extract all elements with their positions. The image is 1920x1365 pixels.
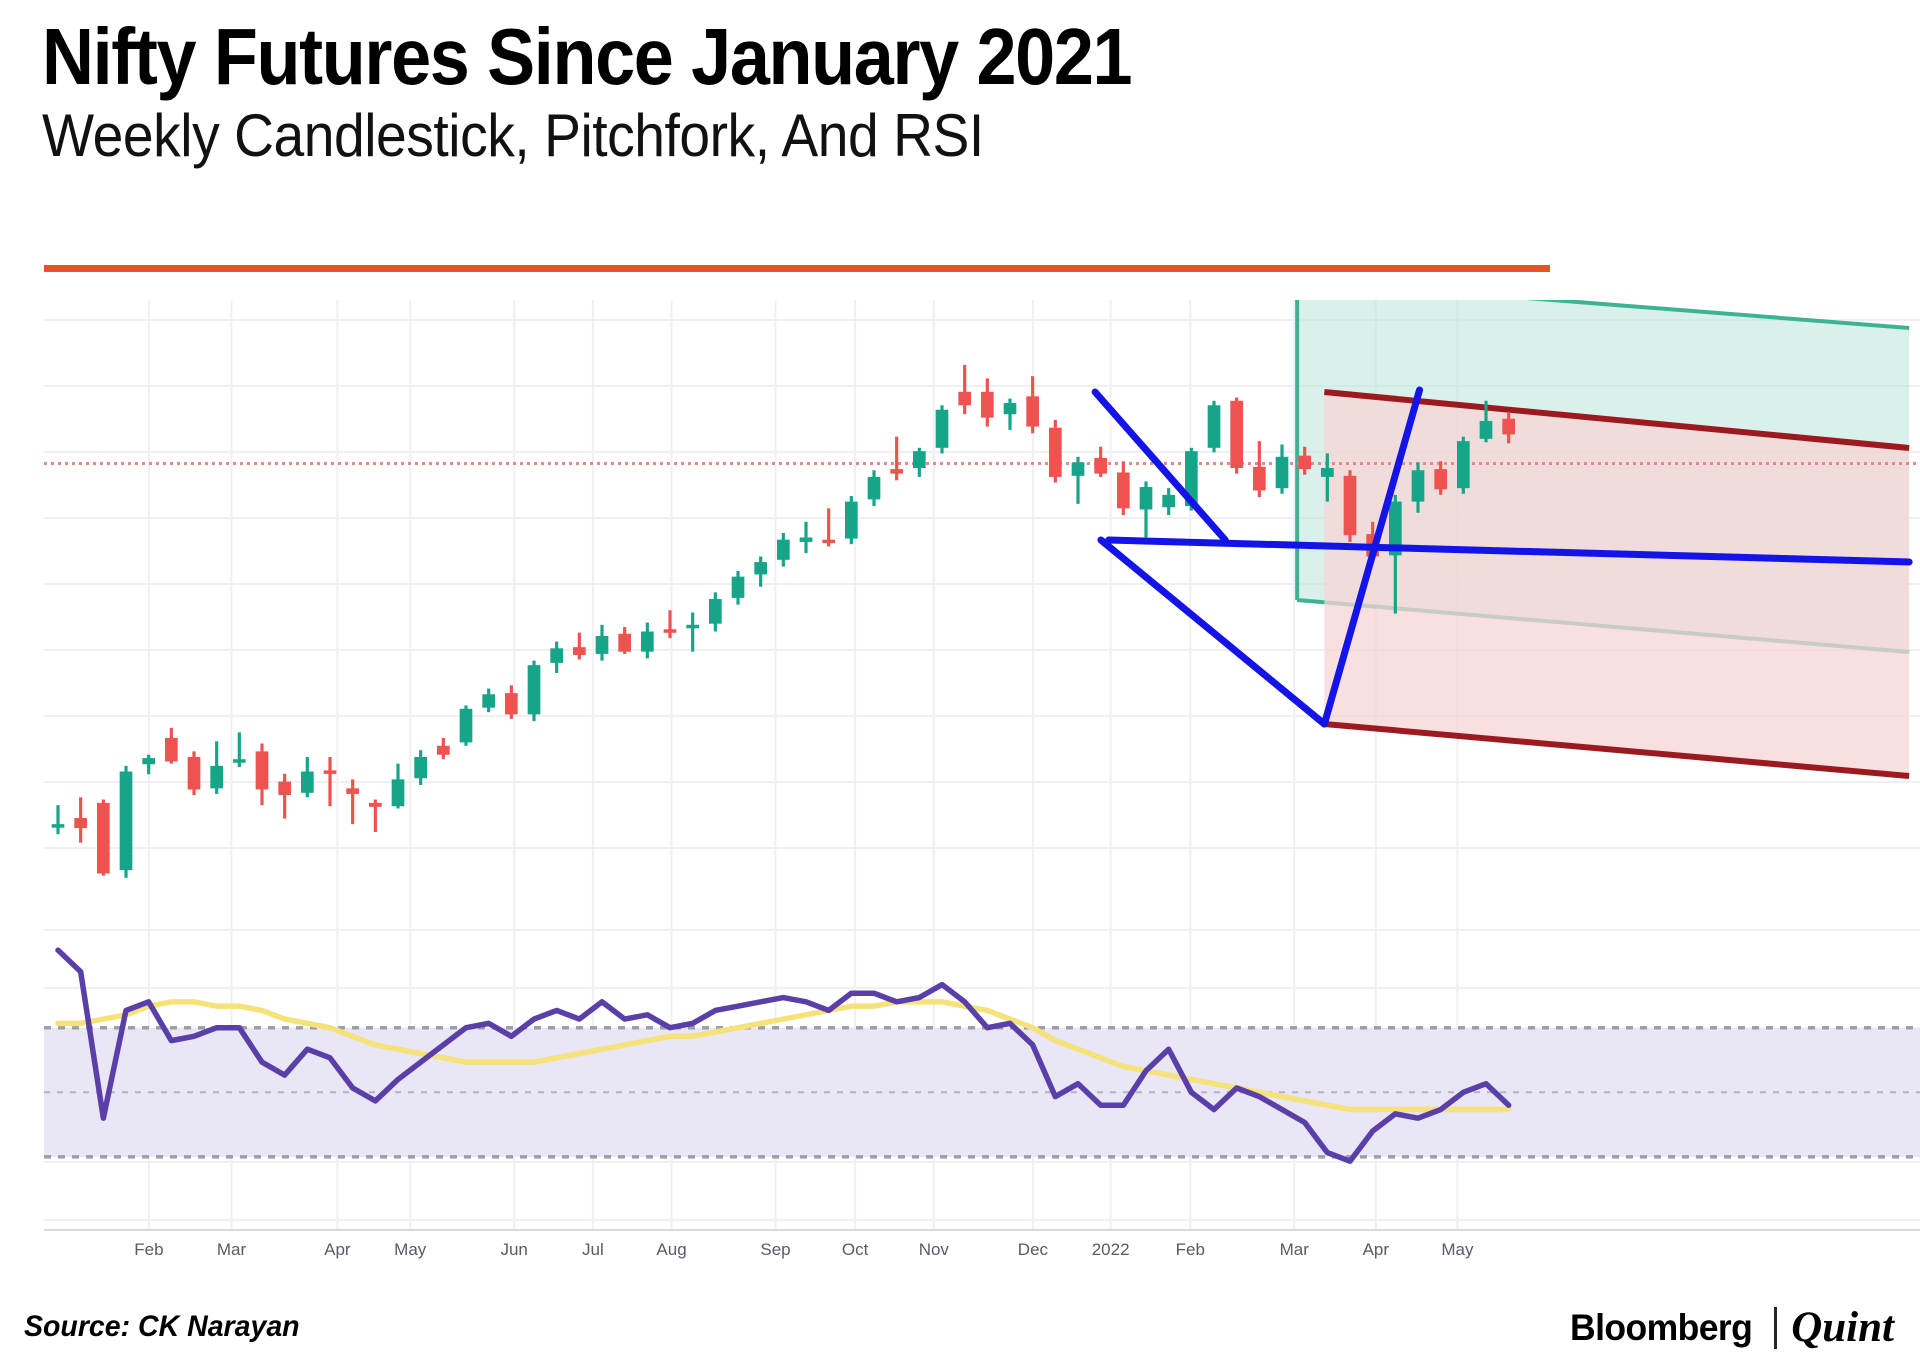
candle-body bbox=[505, 693, 518, 714]
candle-body bbox=[346, 788, 359, 794]
candle-body bbox=[256, 751, 269, 789]
candle-body bbox=[1049, 428, 1062, 477]
rsi-series bbox=[44, 950, 1920, 1161]
x-axis-tick-label: Jun bbox=[500, 1240, 527, 1259]
candle-body bbox=[1208, 405, 1221, 448]
inner-channel-band bbox=[1324, 392, 1909, 776]
x-axis-tick-label: Feb bbox=[1176, 1240, 1205, 1259]
candle-body bbox=[528, 665, 541, 714]
candle-body bbox=[686, 625, 699, 629]
x-axis-tick-label: Apr bbox=[324, 1240, 351, 1259]
candle-body bbox=[1072, 462, 1085, 475]
candle-body bbox=[664, 629, 677, 633]
candle-body bbox=[1344, 476, 1357, 535]
candle-body bbox=[414, 757, 427, 778]
candle-body bbox=[120, 772, 133, 871]
candle-body bbox=[233, 759, 246, 763]
candle-body bbox=[210, 766, 223, 788]
candle-body bbox=[52, 824, 65, 828]
x-axis-tick-label: Aug bbox=[656, 1240, 686, 1259]
chart-header: Nifty Futures Since January 2021 Weekly … bbox=[42, 14, 1878, 170]
candle-body bbox=[777, 540, 790, 560]
candle-body bbox=[822, 540, 835, 544]
candle-body bbox=[165, 738, 178, 762]
candle-body bbox=[1117, 472, 1130, 508]
candle-body bbox=[482, 694, 495, 707]
candle-body bbox=[301, 772, 314, 793]
source-note: Source: CK Narayan bbox=[24, 1310, 300, 1344]
candle-body bbox=[981, 392, 994, 418]
page-title: Nifty Futures Since January 2021 bbox=[42, 14, 1694, 100]
candle-body bbox=[460, 709, 473, 743]
candle-body bbox=[754, 562, 767, 574]
x-axis-tick-label: Nov bbox=[919, 1240, 950, 1259]
candle-body bbox=[958, 392, 971, 405]
candle-body bbox=[709, 599, 722, 624]
candle-body bbox=[1230, 401, 1243, 468]
candle-body bbox=[437, 746, 450, 755]
candle-body bbox=[641, 632, 654, 652]
x-axis-tick-label: Mar bbox=[1280, 1240, 1310, 1259]
x-axis-tick-label: May bbox=[394, 1240, 427, 1259]
candle-body bbox=[732, 577, 745, 598]
candle-body bbox=[913, 451, 926, 468]
candle-body bbox=[1321, 468, 1334, 477]
chart-page: Nifty Futures Since January 2021 Weekly … bbox=[0, 0, 1920, 1365]
candle-body bbox=[97, 803, 110, 874]
candle-body bbox=[868, 477, 881, 499]
candle-body bbox=[188, 757, 201, 789]
candle-body bbox=[1026, 396, 1039, 426]
brand-separator-icon bbox=[1774, 1307, 1777, 1349]
candle-body bbox=[1434, 469, 1447, 489]
x-axis-tick-label: 2022 bbox=[1092, 1240, 1130, 1259]
candle-body bbox=[936, 410, 949, 448]
candle-body bbox=[74, 818, 87, 828]
candle-body bbox=[1480, 421, 1493, 439]
x-axis-tick-label: Feb bbox=[134, 1240, 163, 1259]
candle-body bbox=[1094, 458, 1107, 474]
title-divider bbox=[44, 265, 1550, 272]
candle-body bbox=[1457, 441, 1470, 488]
page-subtitle: Weekly Candlestick, Pitchfork, And RSI bbox=[42, 102, 1731, 170]
x-axis-tick-label: Mar bbox=[217, 1240, 247, 1259]
candle-body bbox=[142, 758, 155, 764]
candle-body bbox=[1298, 456, 1311, 469]
trendline-lower-descending bbox=[1101, 540, 1324, 724]
candle-body bbox=[369, 803, 382, 807]
candle-body bbox=[392, 779, 405, 806]
chart-area: FebMarAprMayJunJulAugSepOctNovDec2022Feb… bbox=[0, 300, 1920, 1260]
candle-body bbox=[890, 469, 903, 473]
candlestick-rsi-chart: FebMarAprMayJunJulAugSepOctNovDec2022Feb… bbox=[0, 300, 1920, 1260]
candle-body bbox=[1502, 419, 1515, 435]
x-axis-tick-label: May bbox=[1441, 1240, 1474, 1259]
bloomberg-wordmark: Bloomberg bbox=[1570, 1307, 1752, 1349]
x-axis-tick-label: Sep bbox=[760, 1240, 790, 1259]
candle-body bbox=[1412, 470, 1425, 501]
candle-body bbox=[596, 636, 609, 654]
x-axis-tick-label: Oct bbox=[842, 1240, 869, 1259]
candle-body bbox=[800, 537, 813, 541]
candle-body bbox=[550, 648, 563, 663]
x-axis-tick-label: Jul bbox=[582, 1240, 604, 1259]
x-axis-tick-label: Dec bbox=[1018, 1240, 1049, 1259]
candle-body bbox=[1004, 403, 1017, 414]
candle-body bbox=[324, 770, 337, 774]
x-axis: FebMarAprMayJunJulAugSepOctNovDec2022Feb… bbox=[134, 1240, 1474, 1259]
quint-wordmark: Quint bbox=[1791, 1303, 1894, 1352]
candle-body bbox=[845, 502, 858, 539]
candle-body bbox=[1253, 467, 1266, 491]
candle-body bbox=[278, 782, 291, 795]
candle-body bbox=[1276, 457, 1289, 488]
candle-body bbox=[573, 647, 586, 655]
candle-body bbox=[1162, 495, 1175, 507]
brand-logo: Bloomberg Quint bbox=[1570, 1303, 1894, 1352]
candle-body bbox=[1140, 487, 1153, 509]
pitchfork-overlay bbox=[1297, 300, 1909, 776]
x-axis-tick-label: Apr bbox=[1363, 1240, 1390, 1259]
candle-body bbox=[618, 634, 631, 652]
